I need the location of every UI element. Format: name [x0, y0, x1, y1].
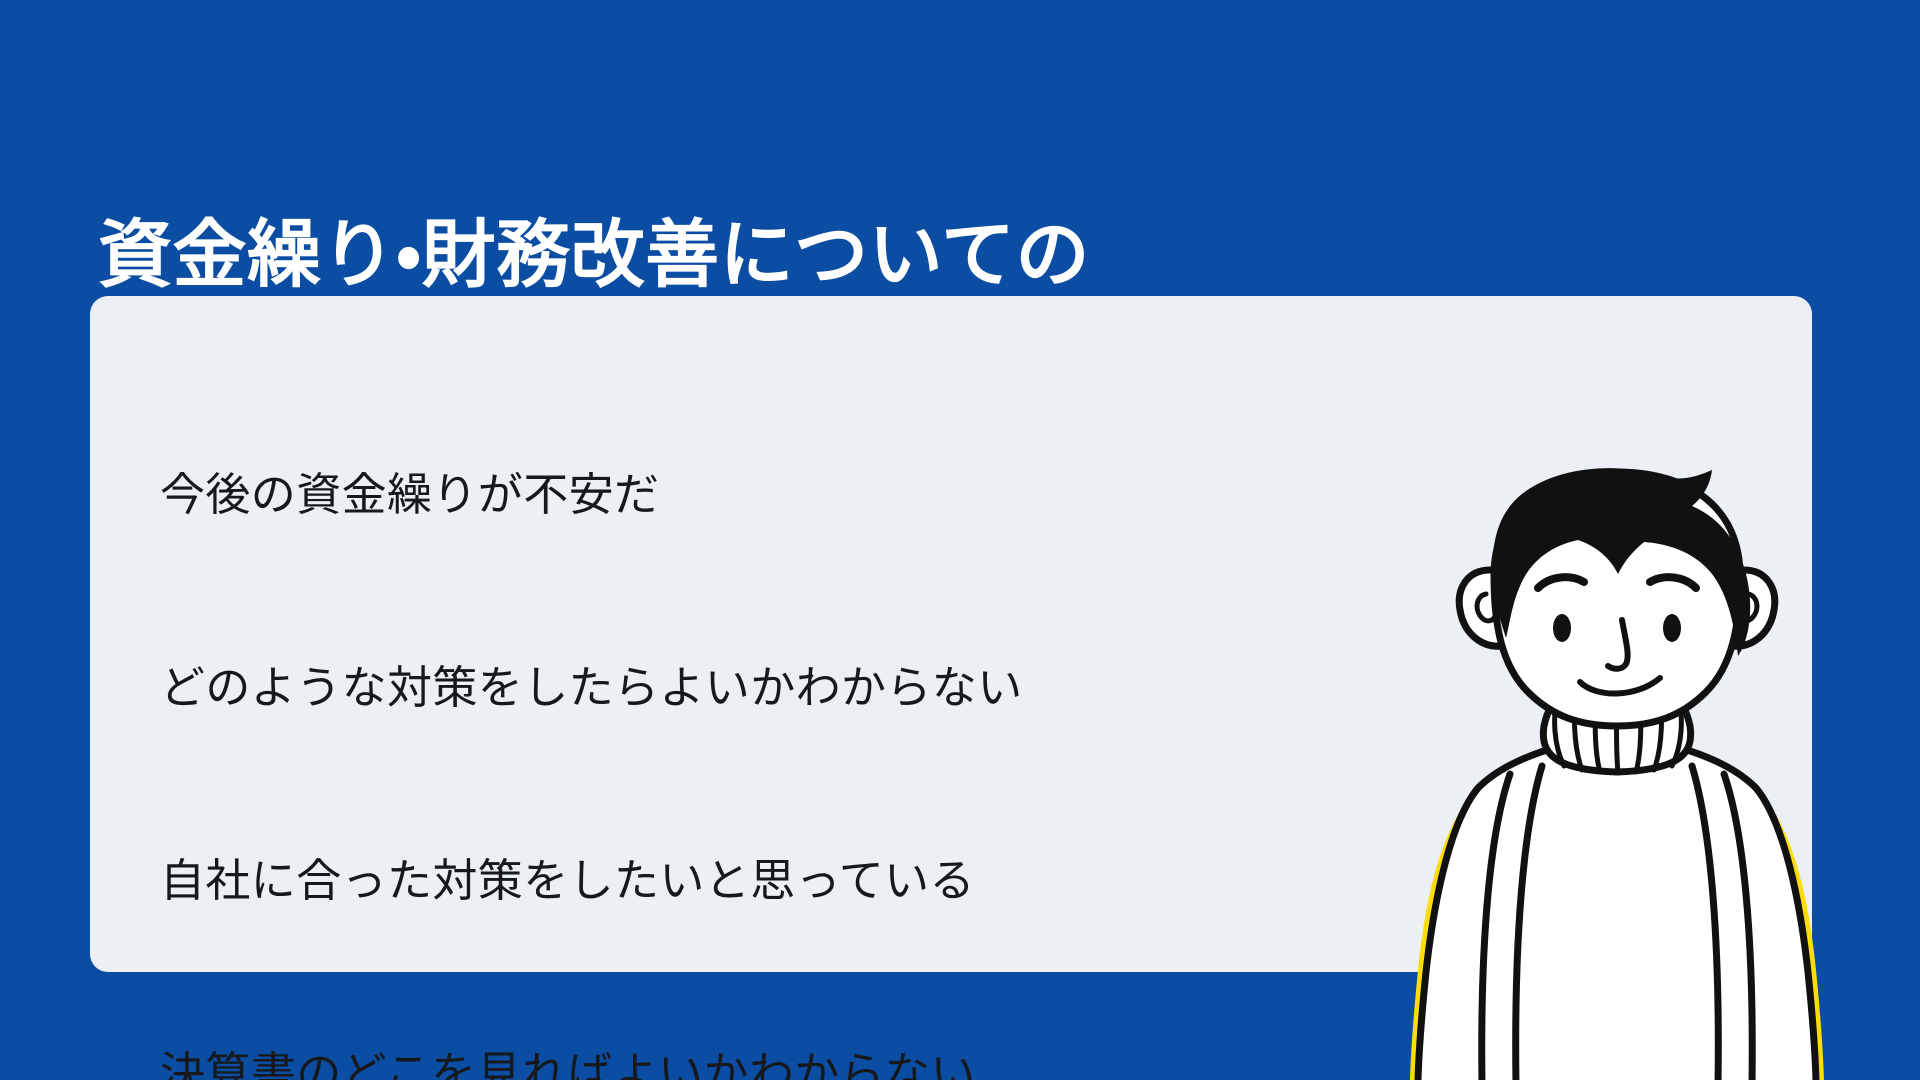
body-line-4: 決算書のどこを見ればよいかわからない — [160, 1042, 1340, 1080]
body-line-1: 今後の資金繰りが不安だ — [160, 463, 1340, 527]
body-line-2: どのような対策をしたらよいかわからない — [160, 656, 1340, 720]
slide-root: 資金繰り・財務改善についての 無料相談会はこちらをクリック 今後の資金繰りが不安… — [0, 0, 1920, 1080]
body-line-3: 自社に合った対策をしたいと思っている — [160, 849, 1340, 913]
panel-body-text: 今後の資金繰りが不安だ どのような対策をしたらよいかわからない 自社に合った対策… — [160, 334, 1340, 1080]
headline-line-1: 資金繰り・財務改善についての — [98, 211, 1698, 298]
